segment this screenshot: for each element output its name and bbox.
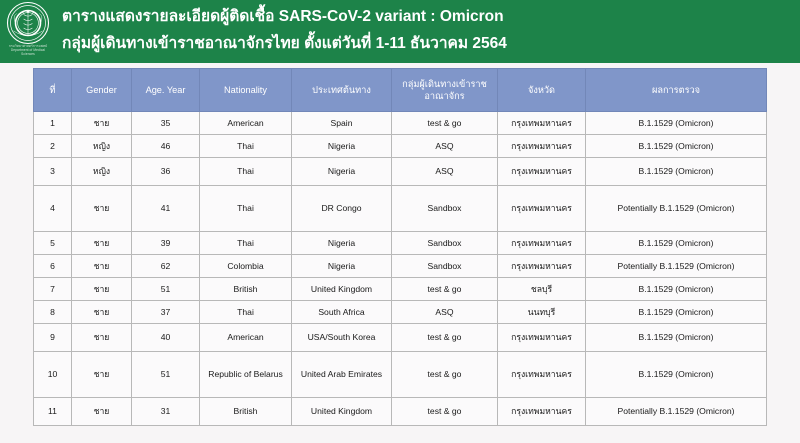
cell-group: test & go: [392, 278, 498, 301]
cell-age: 40: [132, 324, 200, 352]
ministry-logo: กรมวิทยาศาสตร์การแพทย์ Department of Med…: [0, 0, 56, 63]
cell-origin: Nigeria: [292, 158, 392, 186]
cell-province: กรุงเทพมหานคร: [498, 112, 586, 135]
cell-result: B.1.1529 (Omicron): [586, 135, 767, 158]
cell-group: Sandbox: [392, 186, 498, 232]
table-row: 3 หญิง 36 Thai Nigeria ASQ กรุงเทพมหานคร…: [34, 158, 767, 186]
cell-gender: ชาย: [72, 232, 132, 255]
cell-gender: ชาย: [72, 255, 132, 278]
cell-gender: ชาย: [72, 352, 132, 398]
cell-no: 1: [34, 112, 72, 135]
cell-age: 41: [132, 186, 200, 232]
cell-no: 8: [34, 301, 72, 324]
cell-age: 31: [132, 398, 200, 426]
page-banner: กรมวิทยาศาสตร์การแพทย์ Department of Med…: [0, 0, 800, 63]
cell-age: 62: [132, 255, 200, 278]
cell-result: B.1.1529 (Omicron): [586, 158, 767, 186]
cell-origin: United Kingdom: [292, 278, 392, 301]
cell-group: test & go: [392, 398, 498, 426]
table-row: 1 ชาย 35 American Spain test & go กรุงเท…: [34, 112, 767, 135]
cell-result: B.1.1529 (Omicron): [586, 324, 767, 352]
cell-no: 5: [34, 232, 72, 255]
cell-no: 7: [34, 278, 72, 301]
column-header-no: ที่: [34, 69, 72, 112]
cell-origin: Nigeria: [292, 255, 392, 278]
cell-origin: DR Congo: [292, 186, 392, 232]
cell-nationality: Thai: [200, 301, 292, 324]
cell-nationality: Republic of Belarus: [200, 352, 292, 398]
cell-age: 36: [132, 158, 200, 186]
column-header-age: Age. Year: [132, 69, 200, 112]
page-title-line-2: กลุ่มผู้เดินทางเข้าราชอาณาจักรไทย ตั้งแต…: [62, 30, 507, 57]
cell-gender: ชาย: [72, 324, 132, 352]
cell-province: ชลบุรี: [498, 278, 586, 301]
cell-gender: ชาย: [72, 301, 132, 324]
cell-nationality: British: [200, 398, 292, 426]
logo-caption: กรมวิทยาศาสตร์การแพทย์ Department of Med…: [4, 44, 52, 57]
cell-origin: Nigeria: [292, 135, 392, 158]
cell-gender: ชาย: [72, 398, 132, 426]
cell-origin: South Africa: [292, 301, 392, 324]
cell-no: 6: [34, 255, 72, 278]
column-header-origin: ประเทศต้นทาง: [292, 69, 392, 112]
cell-age: 51: [132, 278, 200, 301]
cell-no: 3: [34, 158, 72, 186]
cell-province: กรุงเทพมหานคร: [498, 158, 586, 186]
cell-origin: United Arab Emirates: [292, 352, 392, 398]
cell-gender: หญิง: [72, 135, 132, 158]
column-header-group: กลุ่มผู้เดินทางเข้าราชอาณาจักร: [392, 69, 498, 112]
table-row: 8 ชาย 37 Thai South Africa ASQ นนทบุรี B…: [34, 301, 767, 324]
cell-nationality: Thai: [200, 232, 292, 255]
cell-origin: USA/South Korea: [292, 324, 392, 352]
cell-result: B.1.1529 (Omicron): [586, 278, 767, 301]
omicron-cases-table: ที่ Gender Age. Year Nationality ประเทศต…: [33, 68, 767, 426]
cell-province: กรุงเทพมหานคร: [498, 232, 586, 255]
cell-nationality: Thai: [200, 135, 292, 158]
table-row: 2 หญิง 46 Thai Nigeria ASQ กรุงเทพมหานคร…: [34, 135, 767, 158]
cell-nationality: Thai: [200, 158, 292, 186]
cell-result: B.1.1529 (Omicron): [586, 352, 767, 398]
table-row: 9 ชาย 40 American USA/South Korea test &…: [34, 324, 767, 352]
cell-age: 46: [132, 135, 200, 158]
cell-result: Potentially B.1.1529 (Omicron): [586, 255, 767, 278]
cell-group: test & go: [392, 112, 498, 135]
cell-gender: ชาย: [72, 112, 132, 135]
banner-titles: ตารางแสดงรายละเอียดผู้ติดเชื้อ SARS-CoV-…: [56, 0, 507, 57]
table-row: 4 ชาย 41 Thai DR Congo Sandbox กรุงเทพมห…: [34, 186, 767, 232]
table-header-row: ที่ Gender Age. Year Nationality ประเทศต…: [34, 69, 767, 112]
cell-origin: United Kingdom: [292, 398, 392, 426]
cell-no: 4: [34, 186, 72, 232]
cell-gender: ชาย: [72, 278, 132, 301]
cell-nationality: Thai: [200, 186, 292, 232]
cell-age: 39: [132, 232, 200, 255]
cell-group: ASQ: [392, 135, 498, 158]
column-header-gender: Gender: [72, 69, 132, 112]
cell-province: กรุงเทพมหานคร: [498, 352, 586, 398]
emblem-icon: [0, 0, 56, 46]
table-row: 5 ชาย 39 Thai Nigeria Sandbox กรุงเทพมหา…: [34, 232, 767, 255]
cell-nationality: American: [200, 324, 292, 352]
cell-province: กรุงเทพมหานคร: [498, 186, 586, 232]
cell-province: นนทบุรี: [498, 301, 586, 324]
table-row: 7 ชาย 51 British United Kingdom test & g…: [34, 278, 767, 301]
table-body: 1 ชาย 35 American Spain test & go กรุงเท…: [34, 112, 767, 426]
cell-group: Sandbox: [392, 255, 498, 278]
cell-gender: ชาย: [72, 186, 132, 232]
cell-age: 35: [132, 112, 200, 135]
cell-result: Potentially B.1.1529 (Omicron): [586, 398, 767, 426]
cell-result: B.1.1529 (Omicron): [586, 112, 767, 135]
column-header-result: ผลการตรวจ: [586, 69, 767, 112]
column-header-province: จังหวัด: [498, 69, 586, 112]
cell-age: 51: [132, 352, 200, 398]
cell-no: 11: [34, 398, 72, 426]
column-header-nationality: Nationality: [200, 69, 292, 112]
cell-no: 10: [34, 352, 72, 398]
cell-province: กรุงเทพมหานคร: [498, 398, 586, 426]
table-row: 11 ชาย 31 British United Kingdom test & …: [34, 398, 767, 426]
cell-result: Potentially B.1.1529 (Omicron): [586, 186, 767, 232]
table-row: 10 ชาย 51 Republic of Belarus United Ara…: [34, 352, 767, 398]
cell-group: test & go: [392, 324, 498, 352]
cell-no: 2: [34, 135, 72, 158]
page-title-line-1: ตารางแสดงรายละเอียดผู้ติดเชื้อ SARS-CoV-…: [62, 3, 507, 30]
cell-nationality: British: [200, 278, 292, 301]
cell-group: test & go: [392, 352, 498, 398]
cell-nationality: American: [200, 112, 292, 135]
cell-group: ASQ: [392, 301, 498, 324]
cell-origin: Nigeria: [292, 232, 392, 255]
cell-province: กรุงเทพมหานคร: [498, 255, 586, 278]
cell-no: 9: [34, 324, 72, 352]
omicron-cases-table-container: ที่ Gender Age. Year Nationality ประเทศต…: [33, 68, 766, 426]
cell-group: ASQ: [392, 158, 498, 186]
cell-result: B.1.1529 (Omicron): [586, 301, 767, 324]
cell-province: กรุงเทพมหานคร: [498, 135, 586, 158]
cell-nationality: Colombia: [200, 255, 292, 278]
cell-result: B.1.1529 (Omicron): [586, 232, 767, 255]
cell-origin: Spain: [292, 112, 392, 135]
cell-group: Sandbox: [392, 232, 498, 255]
cell-age: 37: [132, 301, 200, 324]
cell-gender: หญิง: [72, 158, 132, 186]
table-row: 6 ชาย 62 Colombia Nigeria Sandbox กรุงเท…: [34, 255, 767, 278]
cell-province: กรุงเทพมหานคร: [498, 324, 586, 352]
